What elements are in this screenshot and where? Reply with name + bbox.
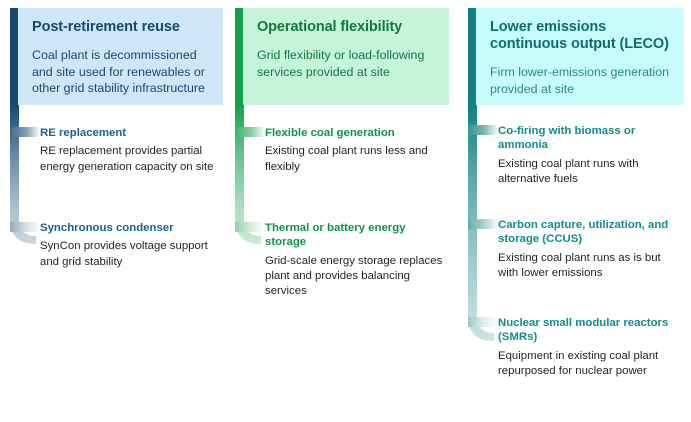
header-accent-bar <box>235 8 243 105</box>
bracket-tab <box>468 219 498 229</box>
header-panel: Operational flexibilityGrid flexibility … <box>243 8 449 105</box>
pathway-title: Operational flexibility <box>257 19 435 36</box>
bracket-tab <box>468 125 498 135</box>
sub-option: Thermal or battery energy storageGrid-sc… <box>265 221 445 299</box>
pathway-column-lower-emissions-continuous-output: Lower emissions continuous output (LECO)… <box>468 0 684 422</box>
pathway-header-operational-flexibility: Operational flexibilityGrid flexibility … <box>235 8 449 105</box>
pathway-subtitle: Coal plant is decommissioned and site us… <box>32 47 209 97</box>
sub-option-title: Thermal or battery energy storage <box>265 221 445 250</box>
sub-option: Nuclear small modular reactors (SMRs)Equ… <box>498 316 680 379</box>
bracket-tab <box>10 222 40 232</box>
pathway-header-post-retirement-reuse: Post-retirement reuseCoal plant is decom… <box>10 8 223 105</box>
bracket-tab <box>235 127 265 137</box>
sub-option-description: Existing coal plant runs as is but with … <box>498 251 680 281</box>
bracket-spine <box>235 105 261 244</box>
sub-option-description: RE replacement provides partial energy g… <box>40 144 219 174</box>
sub-option: Synchronous condenserSynCon provides vol… <box>40 221 219 270</box>
pathway-title: Lower emissions continuous output (LECO) <box>490 19 670 53</box>
pathway-subtitle: Firm lower-emissions generation provided… <box>490 64 670 97</box>
bracket-tab <box>10 127 40 137</box>
header-panel: Post-retirement reuseCoal plant is decom… <box>18 8 223 105</box>
sub-option-title: RE replacement <box>40 126 219 140</box>
pathway-column-post-retirement-reuse: Post-retirement reuseCoal plant is decom… <box>10 0 223 422</box>
pathway-title: Post-retirement reuse <box>32 19 209 36</box>
sub-option-description: Equipment in existing coal plant repurpo… <box>498 349 680 379</box>
diagram-canvas: Post-retirement reuseCoal plant is decom… <box>0 0 691 422</box>
sub-option-title: Co-firing with biomass or ammonia <box>498 124 680 153</box>
bracket-tab <box>235 222 265 232</box>
sub-option-title: Flexible coal generation <box>265 126 445 140</box>
header-accent-bar <box>10 8 18 105</box>
sub-option-title: Nuclear small modular reactors (SMRs) <box>498 316 680 345</box>
bracket-spine <box>10 105 36 244</box>
pathway-header-lower-emissions-continuous-output: Lower emissions continuous output (LECO)… <box>468 8 684 105</box>
bracket-spine <box>468 105 494 341</box>
bracket-tab <box>468 317 498 327</box>
sub-option-description: SynCon provides voltage support and grid… <box>40 239 219 269</box>
header-accent-bar <box>468 8 476 105</box>
sub-option: Co-firing with biomass or ammoniaExistin… <box>498 124 680 187</box>
sub-option-title: Carbon capture, utilization, and storage… <box>498 218 680 247</box>
sub-option-title: Synchronous condenser <box>40 221 219 235</box>
sub-option-description: Grid-scale energy storage replaces plant… <box>265 254 445 299</box>
header-panel: Lower emissions continuous output (LECO)… <box>476 8 684 105</box>
sub-option-description: Existing coal plant runs less and flexib… <box>265 144 445 174</box>
sub-option: RE replacementRE replacement provides pa… <box>40 126 219 175</box>
pathway-subtitle: Grid flexibility or load-following servi… <box>257 47 435 80</box>
pathway-column-operational-flexibility: Operational flexibilityGrid flexibility … <box>235 0 449 422</box>
sub-option: Flexible coal generationExisting coal pl… <box>265 126 445 175</box>
sub-option: Carbon capture, utilization, and storage… <box>498 218 680 281</box>
sub-option-description: Existing coal plant runs with alternativ… <box>498 157 680 187</box>
